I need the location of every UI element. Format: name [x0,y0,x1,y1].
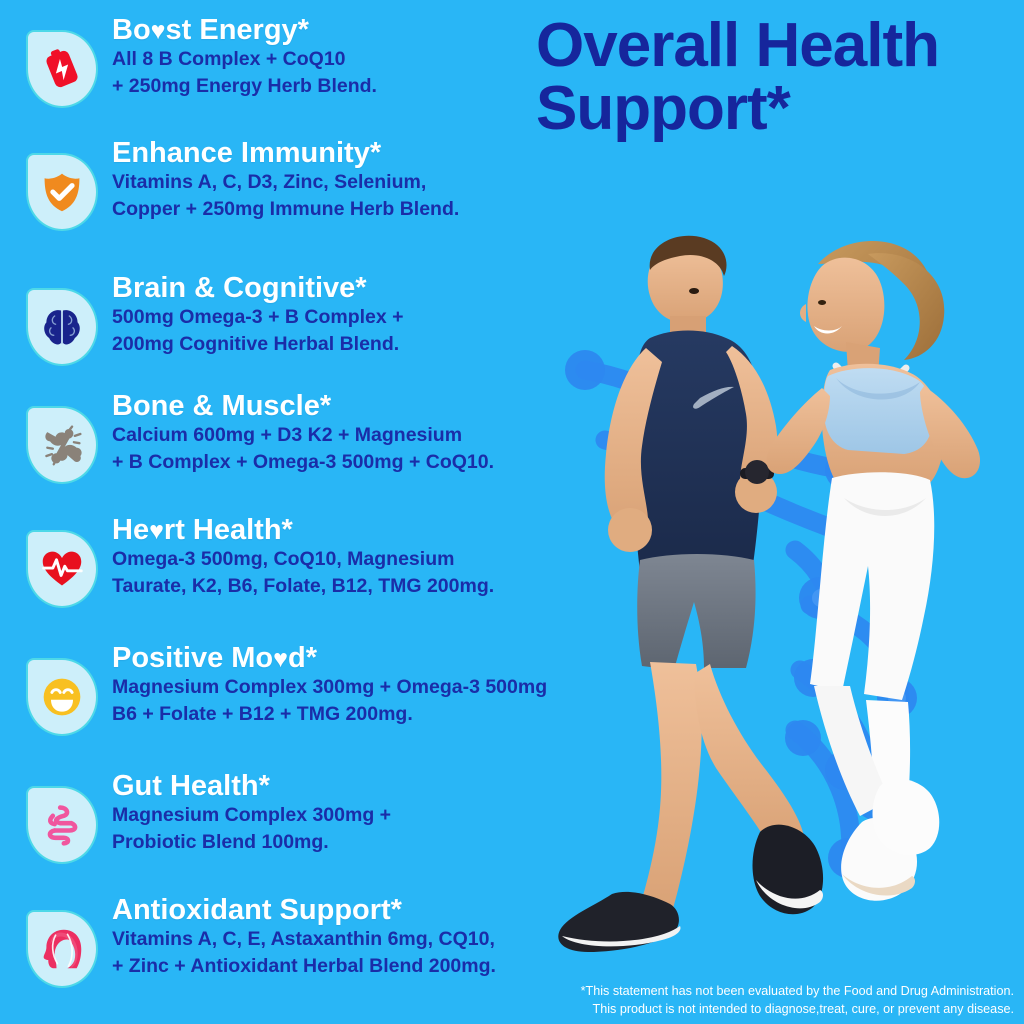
benefit-icon-badge [26,153,98,231]
heart-pulse-icon [26,530,98,608]
runners-photo [554,230,1024,1024]
benefit-item-heart-health: He♥rt Health* Omega-3 500mg, CoQ10, Magn… [26,512,494,608]
benefit-desc-line2: Taurate, K2, B6, Folate, B12, TMG 200mg. [112,574,494,600]
benefit-desc-line2: + 250mg Energy Herb Blend. [112,74,377,100]
bone-joint-icon [26,406,98,484]
woman-face-profile-icon [26,910,98,988]
benefit-texts: Enhance Immunity* Vitamins A, C, D3, Zin… [112,135,459,223]
benefit-icon-badge [26,658,98,736]
fda-disclaimer: *This statement has not been evaluated b… [581,983,1014,1018]
benefit-desc-line1: Calcium 600mg + D3 K2 + Magnesium [112,423,494,449]
benefit-item-bone-muscle: Bone & Muscle* Calcium 600mg + D3 K2 + M… [26,388,494,484]
benefit-texts: Bo♥st Energy* All 8 B Complex + CoQ10 + … [112,12,377,100]
benefit-title-pre: He [112,514,149,546]
benefit-icon-badge [26,288,98,366]
heart-glyph-icon: ♥ [273,645,288,673]
benefit-texts: Antioxidant Support* Vitamins A, C, E, A… [112,892,496,980]
page-title-line2: Support* [536,77,1024,140]
benefit-icon-badge [26,910,98,988]
benefit-title: He♥rt Health* [112,514,494,546]
benefit-item-gut-health: Gut Health* Magnesium Complex 300mg + Pr… [26,768,391,864]
brain-icon [26,288,98,366]
benefit-desc-line2: B6 + Folate + B12 + TMG 200mg. [112,702,547,728]
benefit-desc-line2: 200mg Cognitive Herbal Blend. [112,332,404,358]
benefit-title: Enhance Immunity* [112,137,459,169]
benefit-title: Bo♥st Energy* [112,14,377,46]
benefit-title-pre: Bo [112,14,151,46]
benefit-icon-badge [26,786,98,864]
shield-check-icon [26,153,98,231]
benefit-desc-line1: Omega-3 500mg, CoQ10, Magnesium [112,547,494,573]
benefit-item-positive-mood: Positive Mo♥d* Magnesium Complex 300mg +… [26,640,547,736]
heart-glyph-icon: ♥ [151,17,166,45]
benefit-title: Antioxidant Support* [112,894,496,926]
benefit-texts: He♥rt Health* Omega-3 500mg, CoQ10, Magn… [112,512,494,600]
benefit-desc-line1: All 8 B Complex + CoQ10 [112,47,377,73]
battery-bolt-icon [26,30,98,108]
benefit-title-pre: Positive Mo [112,642,273,674]
benefit-item-enhance-immunity: Enhance Immunity* Vitamins A, C, D3, Zin… [26,135,459,231]
benefit-texts: Bone & Muscle* Calcium 600mg + D3 K2 + M… [112,388,494,476]
benefit-texts: Positive Mo♥d* Magnesium Complex 300mg +… [112,640,547,728]
benefit-desc-line2: Probiotic Blend 100mg. [112,830,391,856]
benefit-icon-badge [26,30,98,108]
benefit-desc-line1: Vitamins A, C, D3, Zinc, Selenium, [112,170,459,196]
disclaimer-line1: *This statement has not been evaluated b… [581,983,1014,1000]
benefit-item-antioxidant-support: Antioxidant Support* Vitamins A, C, E, A… [26,892,496,988]
benefit-item-brain-cognitive: Brain & Cognitive* 500mg Omega-3 + B Com… [26,270,404,366]
page-title: Overall Health Support* [536,14,1024,140]
benefit-icon-badge [26,530,98,608]
benefit-desc-line1: Vitamins A, C, E, Astaxanthin 6mg, CQ10, [112,927,496,953]
benefit-desc-line1: Magnesium Complex 300mg + [112,803,391,829]
benefit-title-post: st Energy* [166,14,309,46]
page-title-line1: Overall Health [536,14,1024,77]
benefit-desc-line2: + B Complex + Omega-3 500mg + CoQ10. [112,450,494,476]
benefit-desc-line1: Magnesium Complex 300mg + Omega-3 500mg [112,675,547,701]
disclaimer-line2: This product is not intended to diagnose… [581,1001,1014,1018]
benefit-texts: Brain & Cognitive* 500mg Omega-3 + B Com… [112,270,404,358]
benefit-title-post: d* [288,642,317,674]
female-runner [766,241,980,901]
benefit-title-post: rt Health* [164,514,293,546]
intestine-icon [26,786,98,864]
heart-glyph-icon: ♥ [149,517,164,545]
benefit-desc-line1: 500mg Omega-3 + B Complex + [112,305,404,331]
benefit-title: Bone & Muscle* [112,390,494,422]
benefit-icon-badge [26,406,98,484]
benefit-title: Positive Mo♥d* [112,642,547,674]
male-runner [558,236,823,952]
benefit-item-boost-energy: Bo♥st Energy* All 8 B Complex + CoQ10 + … [26,12,377,108]
benefit-texts: Gut Health* Magnesium Complex 300mg + Pr… [112,768,391,856]
benefit-title: Brain & Cognitive* [112,272,404,304]
benefit-desc-line2: + Zinc + Antioxidant Herbal Blend 200mg. [112,954,496,980]
benefit-title: Gut Health* [112,770,391,802]
benefit-desc-line2: Copper + 250mg Immune Herb Blend. [112,197,459,223]
smiley-face-icon [26,658,98,736]
